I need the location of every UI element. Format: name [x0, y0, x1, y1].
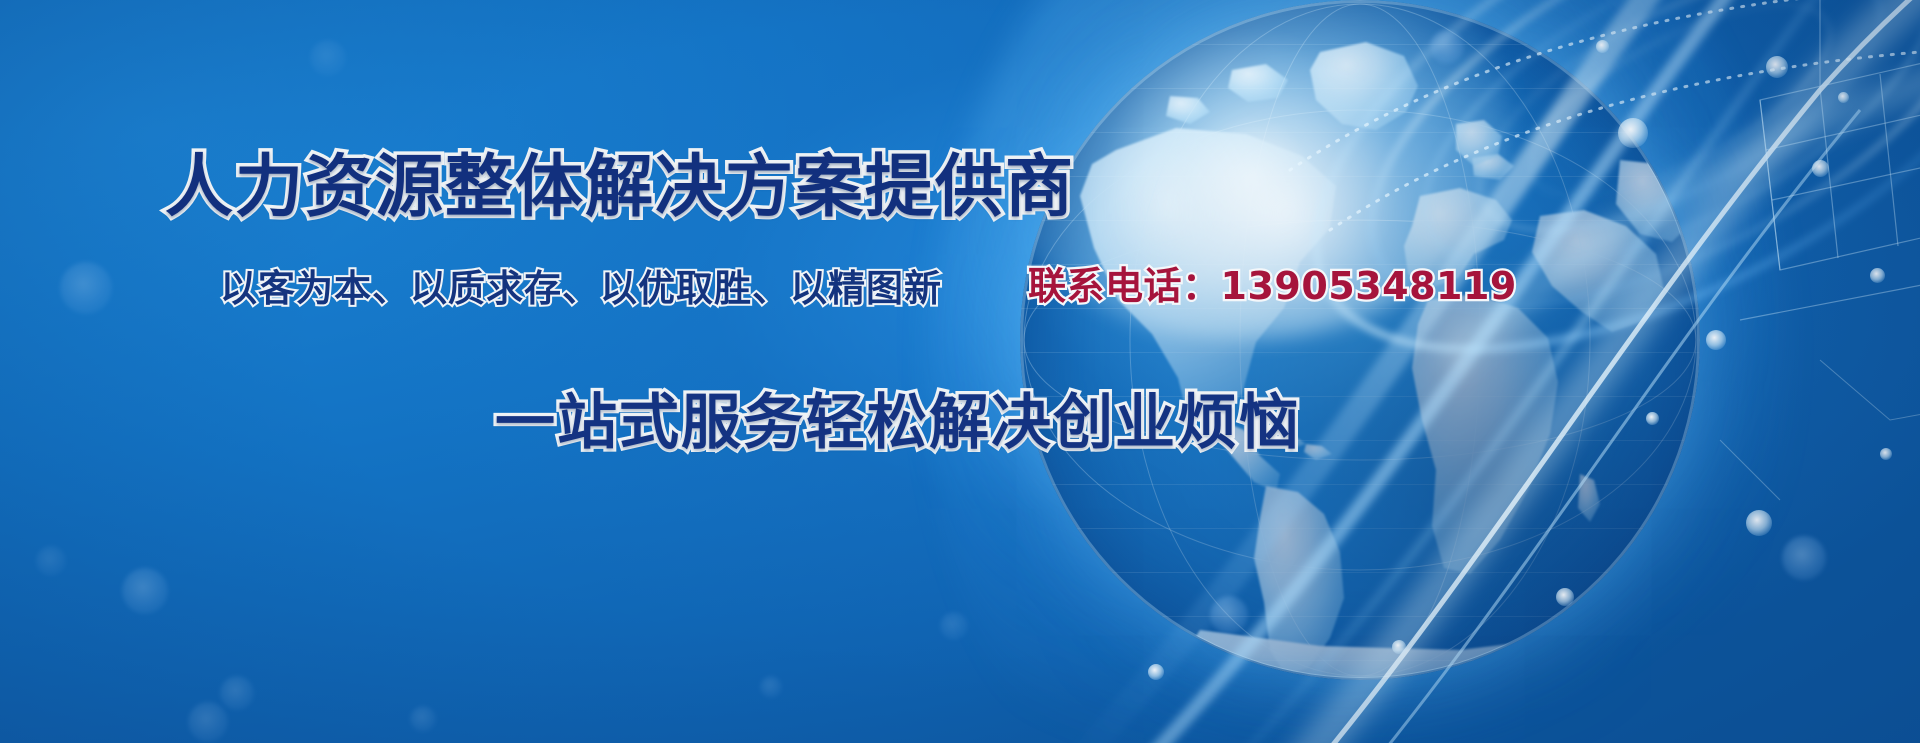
subtitle-slogan: 以客为本、以质求存、以优取胜、以精图新: [220, 258, 942, 312]
contact-phone[interactable]: 联系电话：13905348119: [1028, 255, 1517, 310]
promo-banner: 人力资源整体解决方案提供商 以客为本、以质求存、以优取胜、以精图新 联系电话：1…: [0, 0, 1920, 743]
tagline: 一站式服务轻松解决创业烦恼: [495, 374, 1301, 461]
background-vignette: [0, 0, 1920, 743]
page-title: 人力资源整体解决方案提供商: [165, 131, 1075, 230]
